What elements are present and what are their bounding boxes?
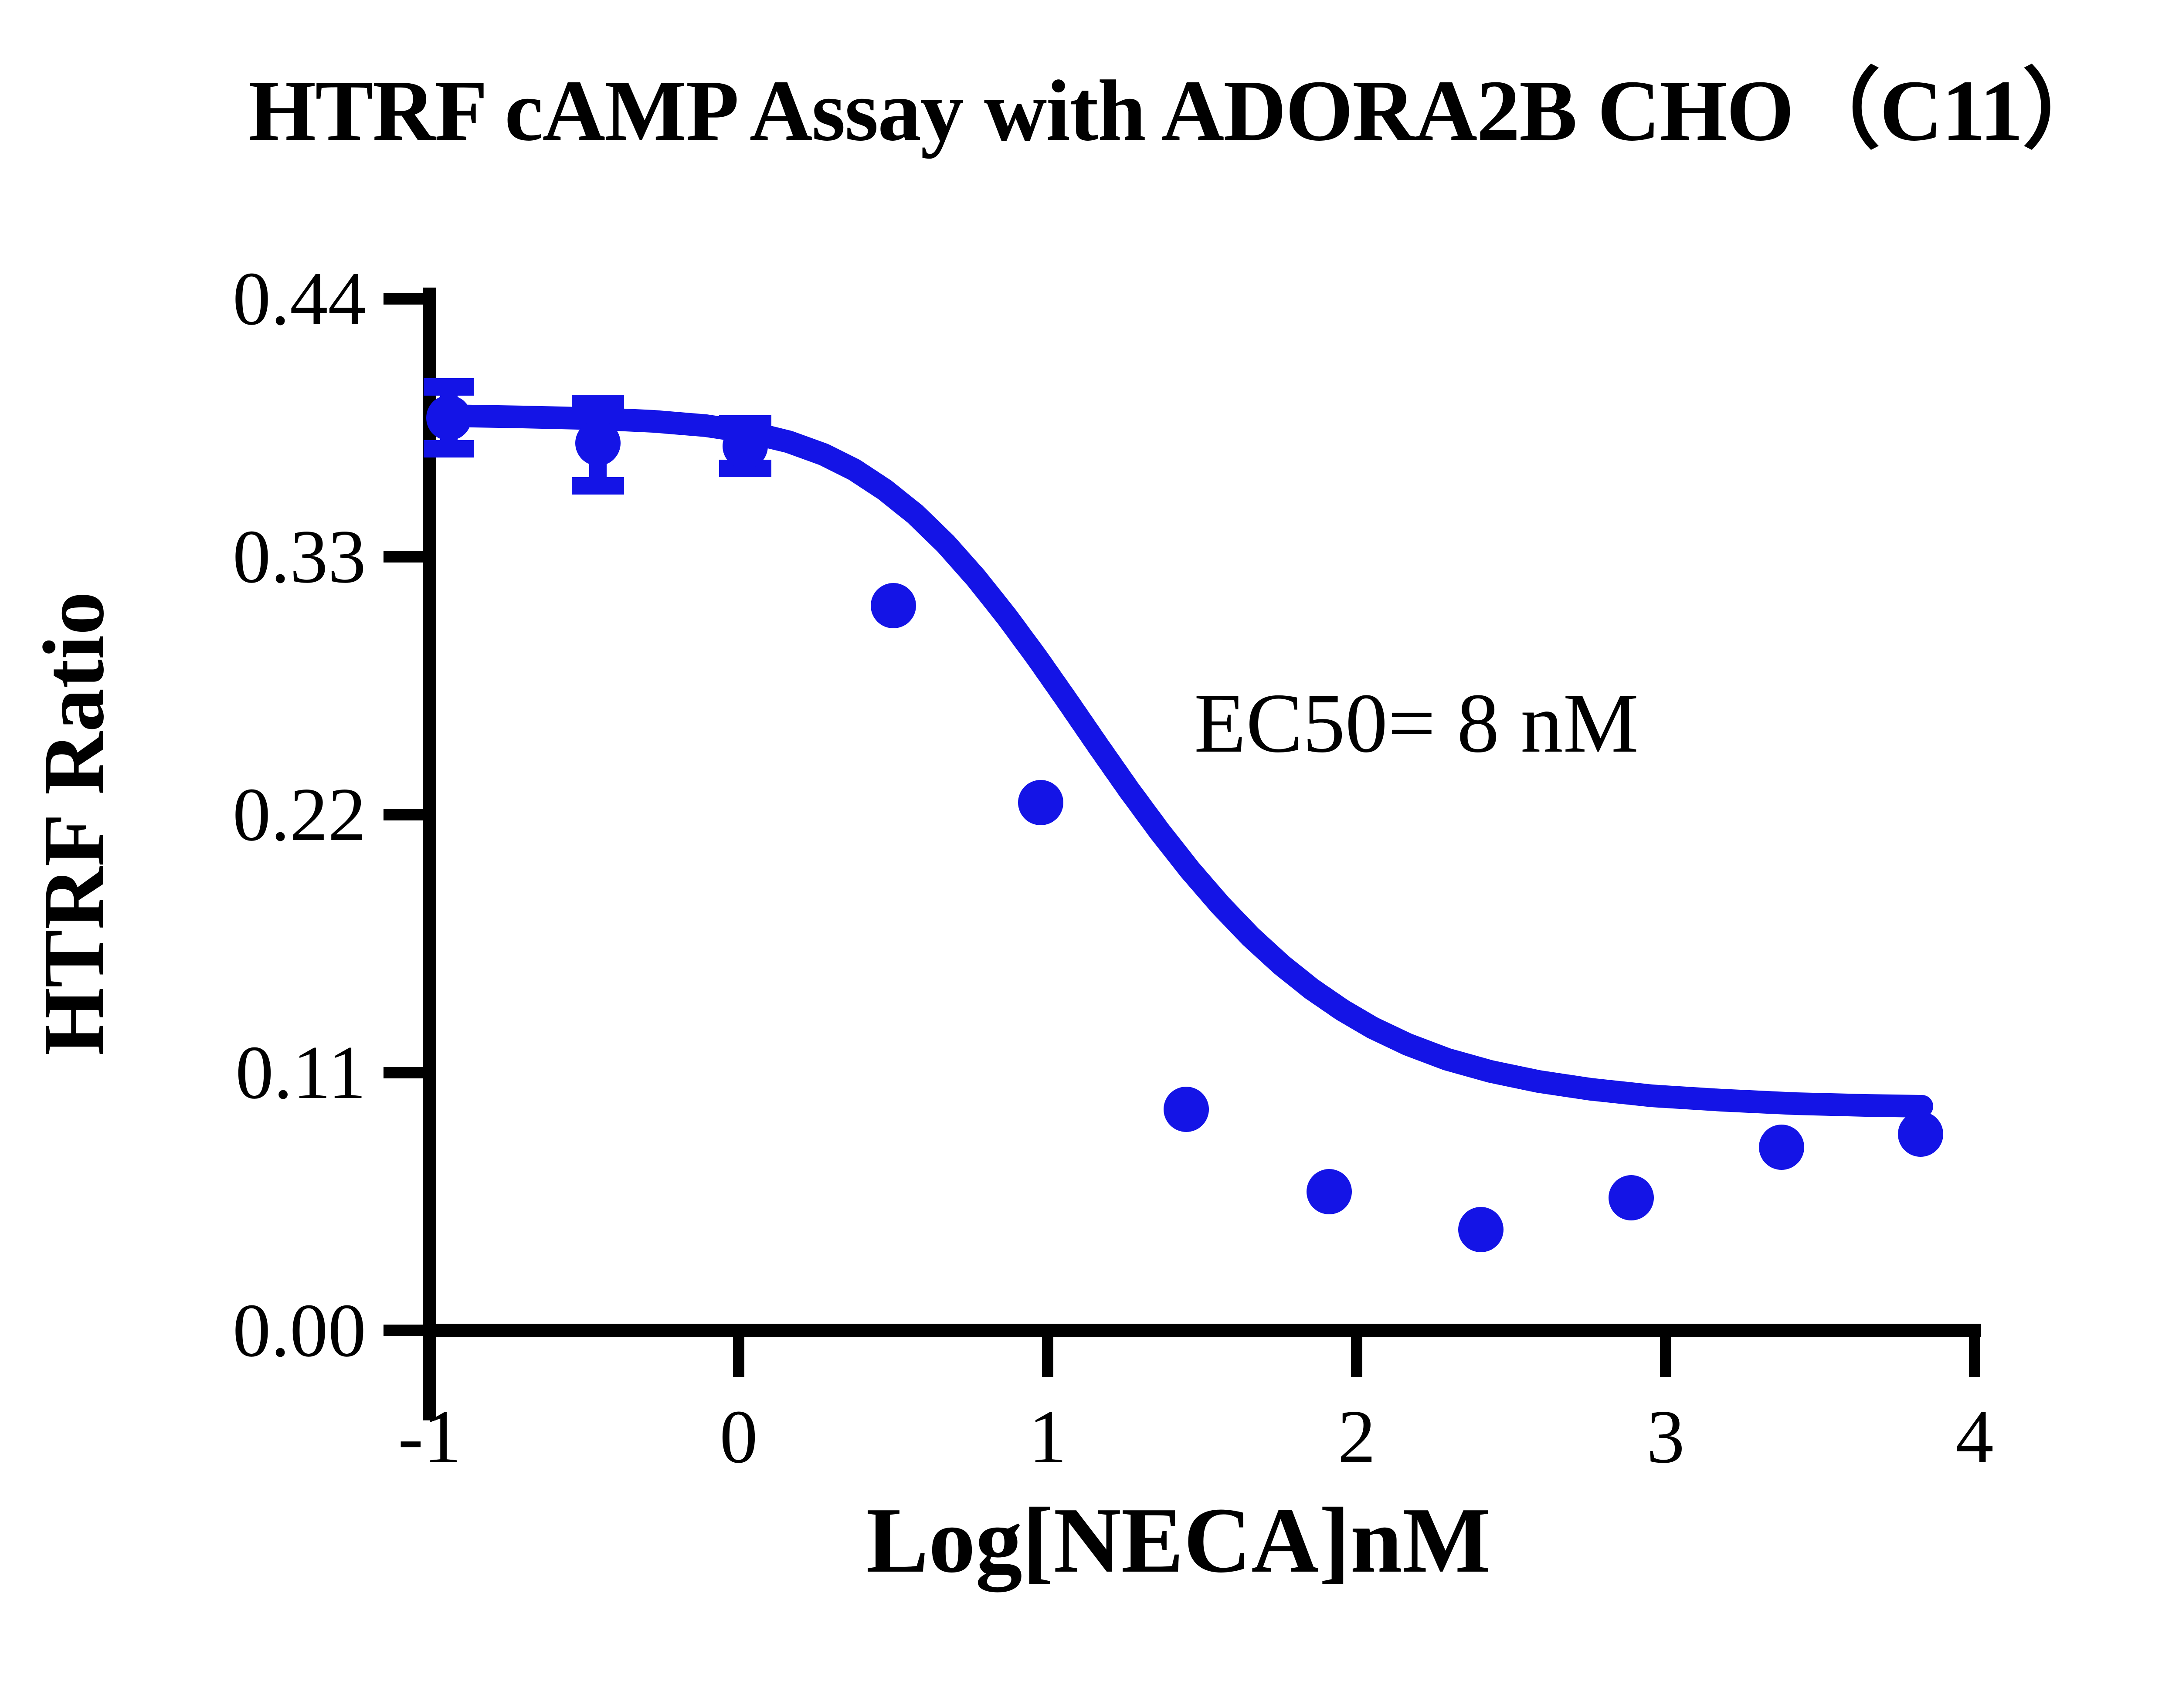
data-point (1609, 1175, 1654, 1220)
x-axis-title: Log[NECA]nM (0, 1490, 2179, 1590)
x-tick-label-3: 3 (1578, 1399, 1753, 1475)
x-axis-ticks (430, 1330, 1975, 1377)
data-point (871, 583, 916, 628)
fit-curve (449, 416, 1922, 1106)
data-point (426, 395, 472, 441)
ec50-annotation: EC50= 8 nM (1194, 680, 1639, 767)
y-tick-label-011: 0.11 (131, 1034, 366, 1111)
data-points (426, 395, 1943, 1252)
data-point (1898, 1112, 1943, 1157)
x-tick-label-4: 4 (1887, 1399, 2062, 1475)
x-tick-label-2: 2 (1269, 1399, 1444, 1475)
x-tick-label-1: 1 (961, 1399, 1135, 1475)
chart-canvas: HTRF cAMP Assay with ADORA2B CHO（C11） (0, 0, 2179, 1708)
data-point (1759, 1125, 1804, 1170)
y-axis-ticks (384, 299, 430, 1330)
y-tick-label-022: 0.22 (131, 776, 366, 853)
data-point (723, 424, 768, 469)
data-point (1018, 780, 1063, 825)
y-tick-label-000: 0.00 (131, 1292, 366, 1369)
axis-lines (423, 288, 1981, 1420)
data-point (1164, 1087, 1209, 1132)
data-point (1458, 1207, 1504, 1252)
x-tick-label-neg1: -1 (343, 1399, 517, 1475)
x-tick-label-0: 0 (652, 1399, 826, 1475)
y-tick-label-033: 0.33 (131, 518, 366, 595)
y-tick-label-044: 0.44 (131, 261, 366, 337)
data-point (575, 420, 621, 466)
y-axis-title: HTRF Ratio (31, 562, 118, 1085)
data-point (1307, 1169, 1352, 1214)
